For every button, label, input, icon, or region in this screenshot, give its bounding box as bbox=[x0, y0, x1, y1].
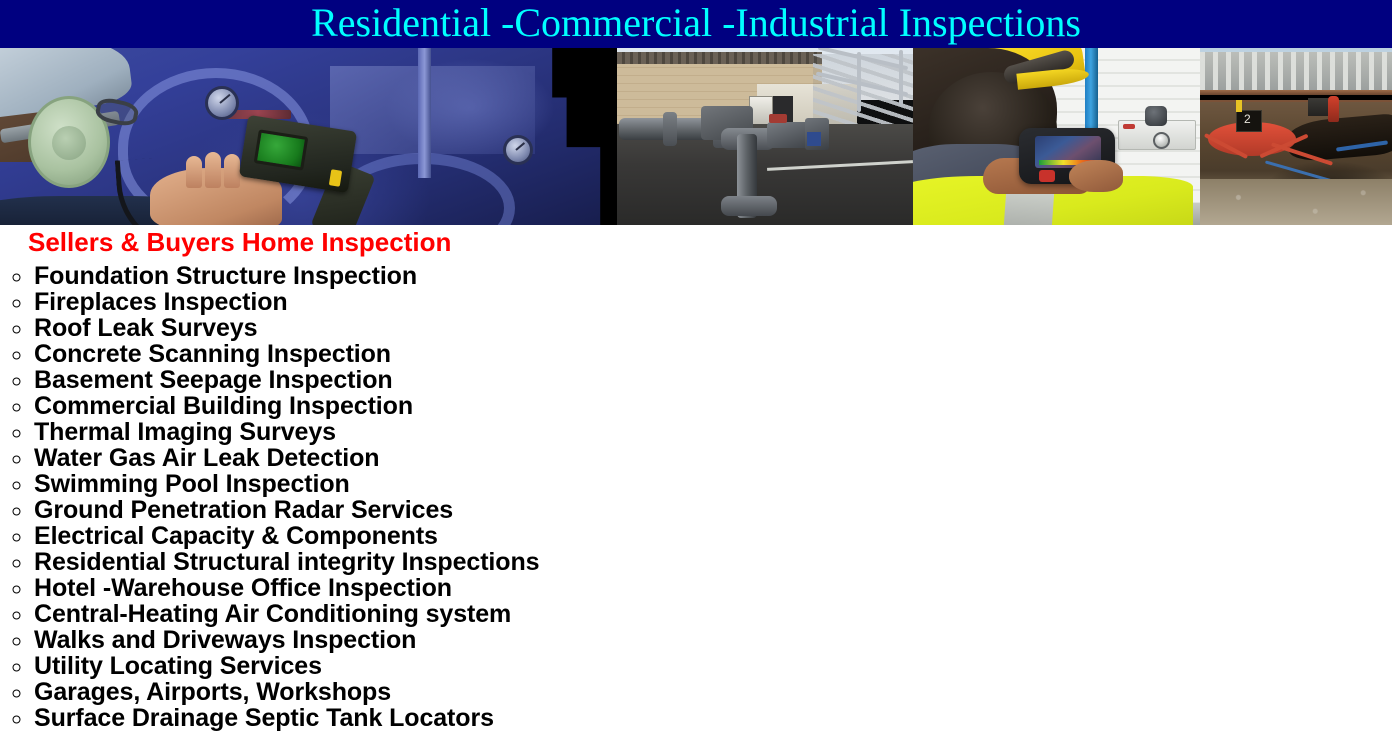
header-banner: Residential -Commercial -Industrial Insp… bbox=[0, 0, 1392, 48]
pressure-gauge-2-icon bbox=[503, 135, 533, 165]
service-list-item: Foundation Structure Inspection bbox=[34, 263, 1392, 289]
red-indicator bbox=[1123, 124, 1135, 129]
service-list-item: Electrical Capacity & Components bbox=[34, 523, 1392, 549]
site-bin bbox=[1308, 98, 1330, 116]
fire-hydrant bbox=[1328, 96, 1339, 122]
service-list-item: Surface Drainage Septic Tank Locators bbox=[34, 705, 1392, 731]
valve-knob bbox=[1145, 106, 1167, 126]
site-marker-number: 2 bbox=[1244, 112, 1251, 126]
finger bbox=[186, 156, 202, 188]
photo-strip: 2 bbox=[0, 48, 1392, 225]
service-list-item: Roof Leak Surveys bbox=[34, 315, 1392, 341]
red-fitting bbox=[769, 114, 787, 123]
wall-coping bbox=[617, 52, 822, 64]
valve-assembly bbox=[767, 122, 809, 148]
finger bbox=[224, 154, 240, 188]
section-heading: Sellers & Buyers Home Inspection bbox=[28, 227, 1392, 257]
pipe-base-flange bbox=[721, 196, 777, 216]
service-list-item: Water Gas Air Leak Detection bbox=[34, 445, 1392, 471]
service-list-item: Concrete Scanning Inspection bbox=[34, 341, 1392, 367]
finger bbox=[205, 152, 221, 188]
pressure-gauge-icon bbox=[205, 86, 239, 120]
stair-post bbox=[899, 50, 903, 106]
camera-record-button bbox=[1039, 170, 1055, 182]
service-list-item: Thermal Imaging Surveys bbox=[34, 419, 1392, 445]
service-list-item: Garages, Airports, Workshops bbox=[34, 679, 1392, 705]
stair-post bbox=[857, 52, 861, 112]
machine-body bbox=[330, 66, 535, 154]
services-content: Sellers & Buyers Home Inspection Foundat… bbox=[0, 227, 1392, 731]
gravel-foreground bbox=[1200, 179, 1392, 225]
service-list-item: Residential Structural integrity Inspect… bbox=[34, 549, 1392, 575]
photo-thermographer-inner bbox=[0, 48, 617, 225]
service-list-item: Fireplaces Inspection bbox=[34, 289, 1392, 315]
service-list-item: Ground Penetration Radar Services bbox=[34, 497, 1392, 523]
service-list-item: Hotel -Warehouse Office Inspection bbox=[34, 575, 1392, 601]
photo-thermal-camera-inner bbox=[913, 48, 1200, 225]
service-list-item: Walks and Driveways Inspection bbox=[34, 627, 1392, 653]
services-list: Foundation Structure InspectionFireplace… bbox=[0, 263, 1392, 731]
service-list-item: Central-Heating Air Conditioning system bbox=[34, 601, 1392, 627]
pipe-flange bbox=[663, 112, 677, 146]
photo-outdoor-industrial-pipework bbox=[617, 48, 913, 225]
site-rail bbox=[1200, 90, 1392, 95]
blue-instrument bbox=[807, 132, 821, 146]
vertical-pipe bbox=[418, 48, 431, 178]
photo-excavation-inner: 2 bbox=[1200, 48, 1392, 225]
service-list-item: Basement Seepage Inspection bbox=[34, 367, 1392, 393]
industrial-plant-structure bbox=[1200, 52, 1392, 94]
ear-defender-cushion bbox=[52, 126, 86, 160]
page-title: Residential -Commercial -Industrial Insp… bbox=[311, 1, 1081, 47]
service-list-item: Swimming Pool Inspection bbox=[34, 471, 1392, 497]
worker-thumb bbox=[1069, 160, 1123, 192]
service-list-item: Commercial Building Inspection bbox=[34, 393, 1392, 419]
photo-pipework-inner bbox=[617, 48, 913, 225]
service-list-item: Utility Locating Services bbox=[34, 653, 1392, 679]
pressure-gauge-icon bbox=[1153, 132, 1170, 149]
photo-thermographer-with-ear-defenders bbox=[0, 48, 617, 225]
yellow-marker bbox=[1236, 100, 1242, 112]
photo-hi-vis-worker-thermal-camera bbox=[913, 48, 1200, 225]
photo-excavation-utility-locating-site: 2 bbox=[1200, 48, 1392, 225]
